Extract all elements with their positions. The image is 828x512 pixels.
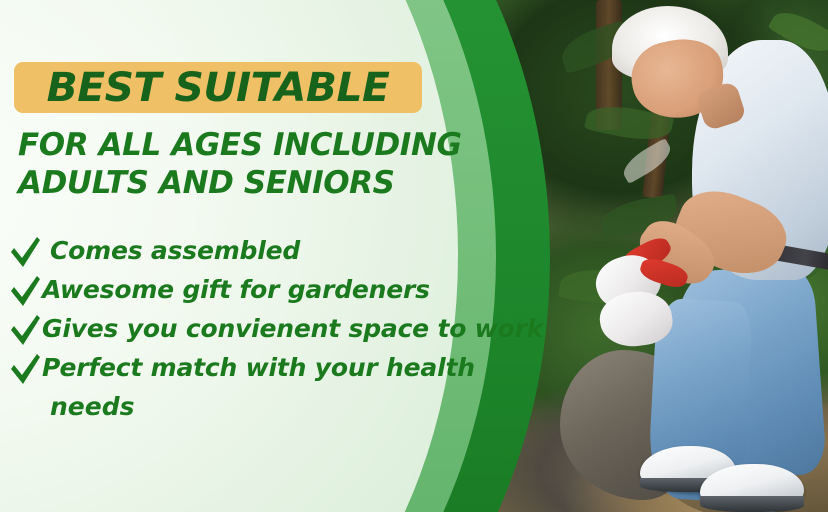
list-item: Comes assembled bbox=[8, 232, 528, 270]
sneaker-sole bbox=[700, 496, 804, 512]
check-icon bbox=[8, 273, 42, 311]
list-item-label: Comes assembled bbox=[42, 232, 300, 270]
feature-list: Comes assembled Awesome gift for gardene… bbox=[8, 232, 528, 426]
list-item: Gives you convienent space to work bbox=[8, 310, 528, 348]
check-icon bbox=[8, 351, 42, 389]
subheading-line-2: ADULTS AND SENIORS bbox=[18, 164, 518, 202]
list-item: Perfect match with your health bbox=[8, 349, 528, 387]
check-icon bbox=[8, 312, 42, 350]
subheading-line-1: FOR ALL AGES INCLUDING bbox=[18, 126, 518, 164]
check-icon bbox=[8, 234, 42, 272]
best-suitable-badge: BEST SUITABLE bbox=[14, 62, 422, 113]
promo-banner: BEST SUITABLE FOR ALL AGES INCLUDING ADU… bbox=[0, 0, 828, 512]
list-item-label: Awesome gift for gardeners bbox=[42, 271, 430, 309]
badge-label: BEST SUITABLE bbox=[47, 65, 390, 111]
list-item: Awesome gift for gardeners bbox=[8, 271, 528, 309]
banner-subheading: FOR ALL AGES INCLUDING ADULTS AND SENIOR… bbox=[18, 126, 518, 202]
banner-content: BEST SUITABLE FOR ALL AGES INCLUDING ADU… bbox=[0, 0, 540, 512]
list-item-label: Perfect match with your health bbox=[42, 349, 475, 387]
list-item-label-continuation: needs bbox=[8, 388, 528, 426]
list-item-label: Gives you convienent space to work bbox=[42, 310, 543, 348]
